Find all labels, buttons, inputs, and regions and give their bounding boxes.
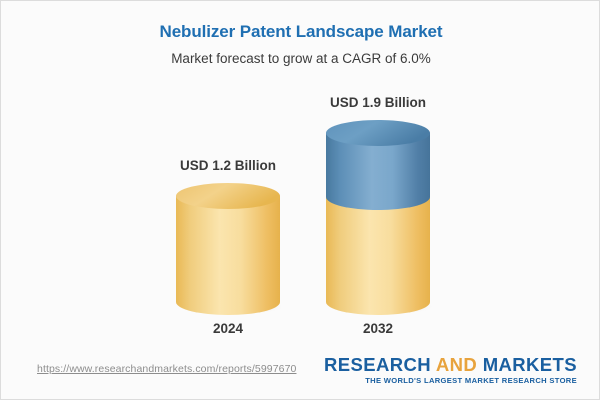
bar-cylinder-2032 [326,120,430,315]
logo-word-and: AND [436,354,477,375]
logo-wordmark: RESEARCH AND MARKETS [324,355,577,374]
logo-word-research: RESEARCH [324,354,431,375]
bar-value-label-2024: USD 1.2 Billion [126,158,330,173]
chart-plot-area: USD 1.2 Billion [1,1,600,346]
logo-tagline: THE WORLD'S LARGEST MARKET RESEARCH STOR… [324,376,577,385]
infographic-card: Nebulizer Patent Landscape Market Market… [0,0,600,400]
bar-cylinder-2024 [176,183,280,315]
source-url-link[interactable]: https://www.researchandmarkets.com/repor… [37,363,296,375]
bar-value-label-2032: USD 1.9 Billion [276,95,480,110]
bar-category-label-2032: 2032 [276,321,480,336]
logo-word-markets: MARKETS [483,354,577,375]
research-and-markets-logo[interactable]: RESEARCH AND MARKETS THE WORLD'S LARGEST… [324,355,577,385]
footer: https://www.researchandmarkets.com/repor… [1,347,600,399]
